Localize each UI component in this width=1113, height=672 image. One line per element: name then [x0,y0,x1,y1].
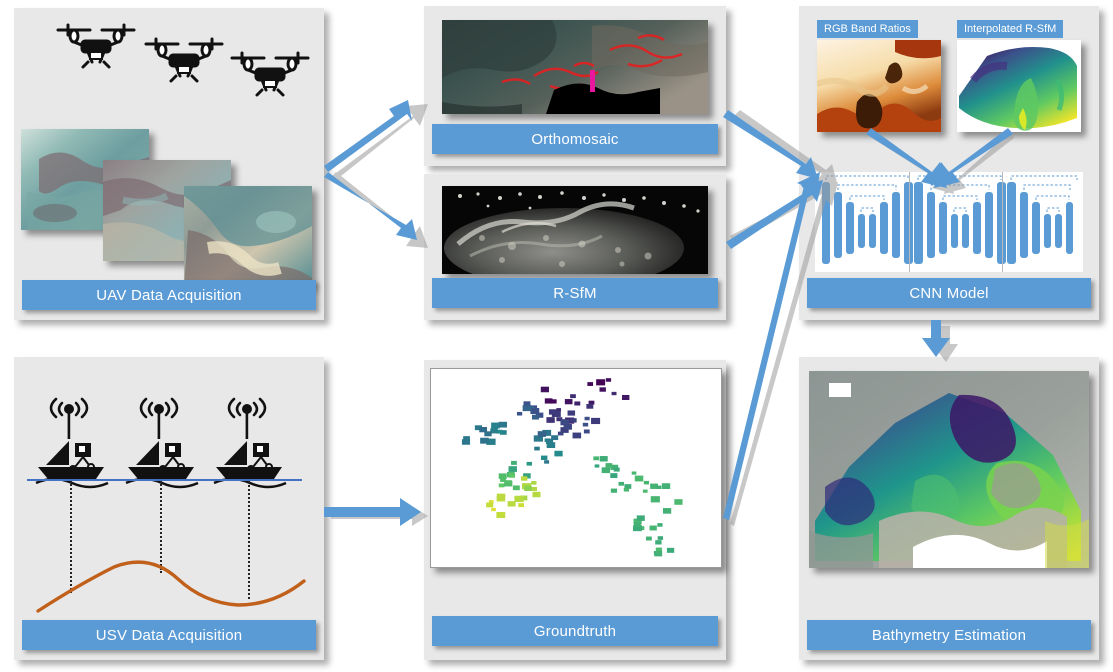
panel-label-usv: USV Data Acquisition [22,620,316,650]
panel-groundtruth[interactable]: Groundtruth [424,360,726,660]
panel-orthomosaic[interactable]: Orthomosaic [424,6,726,166]
seabed-profile [32,545,310,617]
panel-cnn-model[interactable]: RGB Band Ratios Interpolated R-SfM [799,6,1099,320]
arrow-uav-to-rsfm [324,172,417,240]
orthomosaic-image [442,20,708,114]
panel-label-rsfm: R-SfM [432,278,718,308]
panel-uav-data-acquisition[interactable]: UAV Data Acquisition [14,8,324,320]
panel-bathymetry-estimation[interactable]: Bathymetry Estimation [799,357,1099,660]
arrow-uav-to-orthomosaic [324,100,412,172]
panel-usv-data-acquisition[interactable]: USV Data Acquisition [14,357,324,660]
scatter-depth-map [430,368,722,568]
drone-icon-group [14,8,324,108]
panel-label-orthomosaic: Orthomosaic [432,124,718,154]
bathymetry-map [809,371,1089,568]
arrow-cnn-to-bathymetry [922,320,950,357]
unet-architecture-icon [815,172,1083,272]
arrow-usv-to-groundtruth [324,498,421,526]
panel-label-bathymetry: Bathymetry Estimation [807,620,1091,650]
panel-label-groundtruth: Groundtruth [432,616,718,646]
panel-rsfm[interactable]: R-SfM [424,174,726,320]
panel-label-uav: UAV Data Acquisition [22,280,316,310]
minilabel-rgb-band-ratios: RGB Band Ratios [817,20,918,38]
usv-boat-icon-group [14,397,324,492]
interpolated-rsfm-image [957,40,1081,132]
rgb-band-ratios-image [817,40,941,132]
workflow-diagram: UAV Data Acquisition [0,0,1113,672]
uav-photo-3 [184,186,312,287]
rsfm-pointcloud-image [442,186,708,274]
waterline [27,479,302,481]
minilabel-interpolated-rsfm: Interpolated R-SfM [957,20,1063,38]
panel-label-cnn-model: CNN Model [807,278,1091,308]
